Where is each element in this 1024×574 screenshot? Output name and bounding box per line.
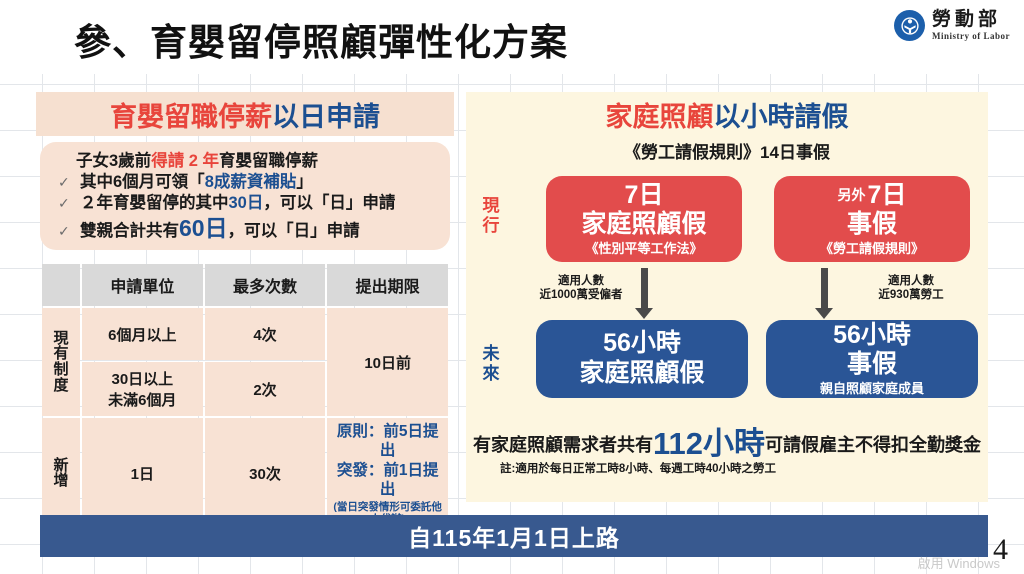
box-r1-days: 7日 [625, 182, 664, 210]
left-callout-box: 子女3歲前 得請 2 年 育嬰留職停薪 ✓ 其中6個月可領「 8成薪資補貼 」 … [40, 142, 450, 250]
box-r2-title: 事假 [847, 210, 897, 239]
ministry-emblem-icon [894, 10, 925, 41]
check-icon: ✓ [58, 223, 80, 241]
cell-deadline-current: 10日前 [327, 308, 448, 416]
arrow-head [815, 308, 833, 319]
table-header-deadline: 提出期限 [327, 264, 448, 306]
box-r2-days: 另外7日 [838, 182, 907, 210]
arrow-head [635, 308, 653, 319]
application-rules-table: 申請單位 最多次數 提出期限 現 有 制 度 6個月以上 4次 10日前 [40, 262, 450, 531]
callout-line-4-a: 雙親合計共有 [80, 221, 179, 242]
left-panel: 育嬰留職停薪以日申請 子女3歲前 得請 2 年 育嬰留職停薪 ✓ 其中6個月可領… [36, 92, 454, 502]
box-r1-law: 《性別平等工作法》 [585, 241, 702, 257]
arrow-shaft [821, 268, 828, 308]
right-heading-navy: 以小時請假 [714, 95, 849, 134]
callout-line-3-b: ，可以「日」申請 [263, 193, 395, 214]
era-future-char-2: 來 [476, 364, 506, 384]
cell-unit-1: 6個月以上 [82, 308, 203, 360]
callout-line-4-b: ，可以「日」申請 [228, 221, 360, 242]
check-icon: ✓ [58, 174, 80, 192]
logo-text: 勞動部 Ministry of Labor [932, 10, 1010, 41]
box-future-family-care-leave: 56小時 家庭照顧假 [536, 320, 748, 398]
table-header-times: 最多次數 [205, 264, 326, 306]
callout-line-1-b: 育嬰留職停薪 [219, 151, 318, 172]
callout-line-3-navy: 30日 [229, 193, 264, 214]
box-r2-law: 《勞工請假規則》 [820, 241, 924, 257]
box-b1-title: 家庭照顧假 [579, 359, 704, 388]
footnote: 註:適用於每日正常工時8小時、每週工時40小時之勞工 [500, 460, 776, 476]
row-label-new-char-2: 增 [44, 473, 78, 489]
deadline-principle: 原則：前5日提出 [329, 422, 446, 461]
box-current-personal-leave: 另外7日 事假 《勞工請假規則》 [774, 176, 970, 262]
callout-line-2-b: 」 [296, 172, 313, 193]
callout-line-1: 子女3歲前 得請 2 年 育嬰留職停薪 [54, 151, 438, 172]
applies-note-right: 適用人數 近930萬勞工 [836, 274, 986, 303]
right-heading-red: 家庭照顧 [606, 95, 714, 134]
era-now-char-1: 現 [476, 196, 506, 216]
table-header-corner [42, 264, 80, 306]
summary-line: 有家庭照顧需求者共有112小時可請假雇主不得扣全勤獎金 [466, 418, 988, 463]
row-label-char-1: 現 [44, 331, 78, 347]
callout-line-1-red: 得請 2 年 [151, 151, 219, 172]
cell-unit-2: 30日以上 未滿6個月 [82, 362, 203, 416]
page-title: 參、育嬰留停照顧彈性化方案 [74, 12, 568, 66]
box-b2-note: 親自照顧家庭成員 [820, 381, 924, 397]
logo-chinese-name: 勞動部 [932, 10, 1010, 29]
box-future-personal-leave: 56小時 事假 親自照顧家庭成員 [766, 320, 978, 398]
era-label-current: 現 行 [476, 196, 506, 235]
callout-line-2-a: 其中6個月可領「 [80, 172, 205, 193]
row-label-char-3: 制 [44, 362, 78, 378]
callout-line-2-navy: 8成薪資補貼 [205, 172, 297, 193]
down-arrow-icon [640, 268, 649, 319]
row-label-new: 新 增 [42, 418, 80, 529]
summary-suffix: 可請假雇主不得扣全勤獎金 [765, 435, 981, 455]
applies-left-line-2: 近1000萬受僱者 [506, 288, 656, 302]
applies-note-left: 適用人數 近1000萬受僱者 [506, 274, 656, 303]
box-r1-title: 家庭照顧假 [581, 210, 706, 239]
cell-unit-3: 1日 [82, 418, 203, 529]
logo-english-name: Ministry of Labor [932, 32, 1010, 41]
table-row: 現 有 制 度 6個月以上 4次 10日前 [42, 308, 448, 360]
left-heading-navy: 以日申請 [272, 95, 380, 134]
cell-times-3: 30次 [205, 418, 326, 529]
box-current-family-care-leave: 7日 家庭照顧假 《性別平等工作法》 [546, 176, 742, 262]
applies-right-line-2: 近930萬勞工 [836, 288, 986, 302]
arrow-shaft [641, 268, 648, 308]
box-b2-title: 事假 [847, 350, 897, 379]
down-arrow-icon [820, 268, 829, 319]
summary-hours: 112小時 [653, 426, 765, 461]
cell-unit-2-line-2: 未滿6個月 [108, 392, 176, 409]
box-r2-days-value: 7日 [868, 181, 907, 209]
cell-deadline-new: 原則：前5日提出 突發：前1日提出 (當日突發情形可委託他人代辦) [327, 418, 448, 529]
callout-line-4-navy: 60日 [179, 214, 228, 243]
callout-line-4: ✓ 雙親合計共有 60日 ，可以「日」申請 [54, 214, 438, 243]
box-r2-prefix: 另外 [838, 187, 866, 203]
callout-line-1-a: 子女3歲前 [76, 151, 151, 172]
row-label-new-char-1: 新 [44, 458, 78, 474]
row-label-char-2: 有 [44, 346, 78, 362]
summary-prefix: 有家庭照顧需求者共有 [473, 435, 653, 455]
row-label-current-system: 現 有 制 度 [42, 308, 80, 416]
left-heading-red: 育嬰留職停薪 [110, 95, 272, 134]
left-panel-heading: 育嬰留職停薪以日申請 [36, 92, 454, 136]
windows-activation-watermark: 啟用 Windows [918, 553, 1000, 572]
cell-times-1: 4次 [205, 308, 326, 360]
era-now-char-2: 行 [476, 216, 506, 236]
era-label-future: 未 來 [476, 344, 506, 383]
cell-times-2: 2次 [205, 362, 326, 416]
cell-unit-2-line-1: 30日以上 [111, 371, 173, 388]
callout-line-3: ✓ ２年育嬰留停的其中 30日 ，可以「日」申請 [54, 193, 438, 214]
ministry-logo: 勞動部 Ministry of Labor [894, 10, 1010, 41]
table-header-row: 申請單位 最多次數 提出期限 [42, 264, 448, 306]
right-panel-heading: 家庭照顧以小時請假 [466, 92, 988, 136]
right-panel: 家庭照顧以小時請假 《勞工請假規則》14日事假 現 行 未 來 7日 家庭照顧假… [466, 92, 988, 502]
check-icon: ✓ [58, 195, 80, 213]
applies-left-line-1: 適用人數 [506, 274, 656, 288]
row-label-char-4: 度 [44, 378, 78, 394]
callout-line-2: ✓ 其中6個月可領「 8成薪資補貼 」 [54, 172, 438, 193]
slide-header: 參、育嬰留停照顧彈性化方案 勞動部 Ministry of Labor [0, 0, 1024, 74]
effective-date-banner: 自115年1月1日上路 [40, 515, 988, 557]
box-b1-hours: 56小時 [603, 330, 681, 358]
slide-canvas: 參、育嬰留停照顧彈性化方案 勞動部 Ministry of Labor 育嬰留職… [0, 0, 1024, 574]
law-reference-line: 《勞工請假規則》14日事假 [466, 138, 988, 163]
callout-line-3-a: ２年育嬰留停的其中 [80, 193, 229, 214]
era-future-char-1: 未 [476, 344, 506, 364]
table-row: 新 增 1日 30次 原則：前5日提出 突發：前1日提出 (當日突發情形可委託他… [42, 418, 448, 529]
box-b2-hours: 56小時 [833, 322, 911, 350]
deadline-sudden: 突發：前1日提出 [329, 461, 446, 500]
applies-right-line-1: 適用人數 [836, 274, 986, 288]
table-header-unit: 申請單位 [82, 264, 203, 306]
